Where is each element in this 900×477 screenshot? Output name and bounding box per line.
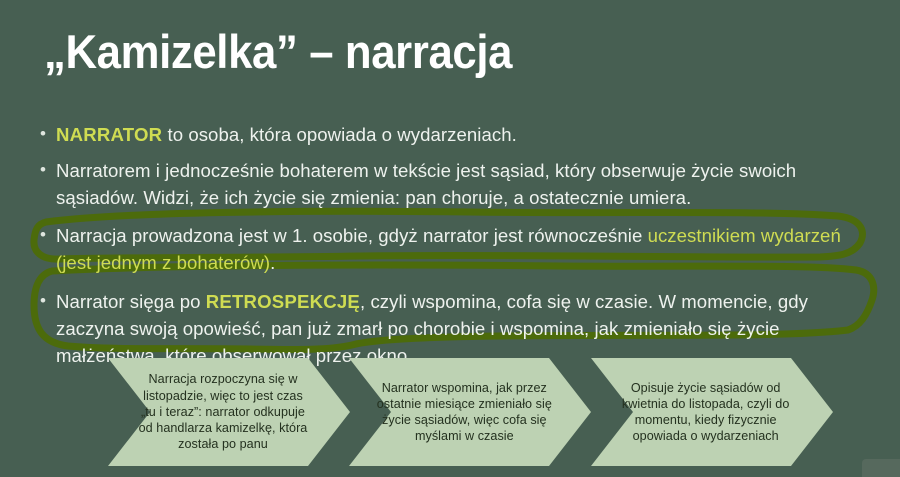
list-item-3-post: . xyxy=(270,252,275,273)
list-item-3-pre: Narracja prowadzona jest w 1. osobie, gd… xyxy=(56,225,648,246)
corner-artifact xyxy=(862,459,900,477)
list-item-1-rest: to osoba, która opowiada o wydarzeniach. xyxy=(162,124,517,145)
bullet-marker-icon: • xyxy=(40,223,56,248)
retrospekcja-keyword: RETROSPEKCJĘ xyxy=(206,291,360,312)
narrator-keyword: NARRATOR xyxy=(56,124,162,145)
chevron-1-label: Narracja rozpoczyna się w listopadzie, w… xyxy=(134,365,312,459)
list-item-3-text: Narracja prowadzona jest w 1. osobie, gd… xyxy=(56,223,864,277)
list-item-2: • Narratorem i jednocześnie bohaterem w … xyxy=(40,158,864,212)
list-item-3: • Narracja prowadzona jest w 1. osobie, … xyxy=(40,223,864,277)
bullet-list: • NARRATOR to osoba, która opowiada o wy… xyxy=(40,122,864,374)
list-item-1: • NARRATOR to osoba, która opowiada o wy… xyxy=(40,122,864,149)
chevron-3-label: Opisuje życie sąsiadów od kwietnia do li… xyxy=(617,365,795,459)
bullet-marker-icon: • xyxy=(40,122,56,147)
bullet-marker-icon: • xyxy=(40,158,56,183)
chevron-2-label: Narrator wspomina, jak przez ostatnie mi… xyxy=(375,365,553,459)
list-item-4-pre: Narrator sięga po xyxy=(56,291,206,312)
chevron-2: Narrator wspomina, jak przez ostatnie mi… xyxy=(349,358,590,466)
page-title: „Kamizelka” – narracja xyxy=(44,26,512,79)
bullet-marker-icon: • xyxy=(40,289,56,314)
list-item-2-text: Narratorem i jednocześnie bohaterem w te… xyxy=(56,158,864,212)
chevron-3: Opisuje życie sąsiadów od kwietnia do li… xyxy=(591,358,832,466)
list-item-3-emphasis-1: uczestnikiem xyxy=(648,225,756,246)
chevron-1: Narracja rozpoczyna się w listopadzie, w… xyxy=(108,358,349,466)
list-item-1-text: NARRATOR to osoba, która opowiada o wyda… xyxy=(56,122,864,149)
slide-canvas: „Kamizelka” – narracja • NARRATOR to oso… xyxy=(0,0,900,477)
process-chevron-row: Narracja rozpoczyna się w listopadzie, w… xyxy=(108,358,832,466)
